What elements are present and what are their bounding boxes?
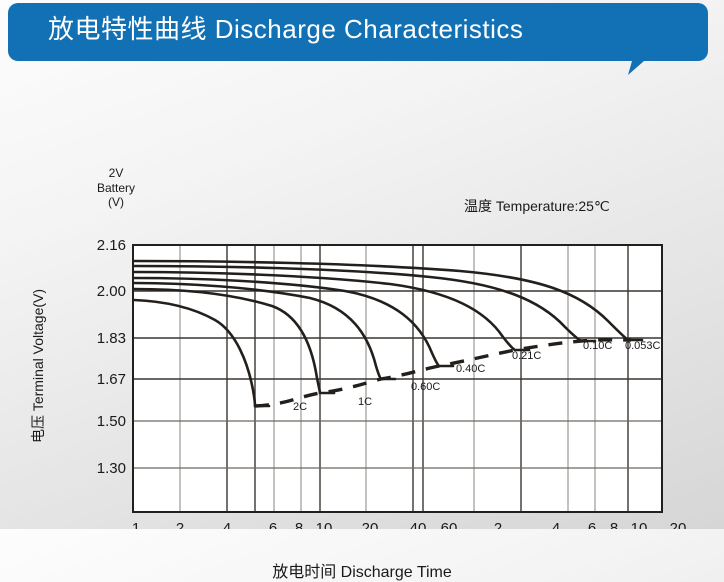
x-tick-10-min: 10 bbox=[316, 520, 333, 529]
y-tick-2-16: 2.16 bbox=[97, 237, 126, 254]
x-axis-title: 放电时间 Discharge Time bbox=[0, 558, 724, 582]
page-title: 放电特性曲线 Discharge Characteristics bbox=[48, 14, 523, 44]
discharge-chart: 2C 1C 0.60C 0.40C 0.21C 0.10C 0.053C 2.1… bbox=[0, 78, 724, 529]
x-axis-tick-labels: 1 2 4 6 8 10 20 40 60 2 4 6 8 10 20 bbox=[132, 520, 687, 529]
curve-label-0-60c: 0.60C bbox=[411, 381, 440, 393]
x-tick-10-h: 10 bbox=[631, 520, 648, 529]
x-tick-2-h: 2 bbox=[494, 520, 502, 529]
curve-label-2c: 2C bbox=[293, 401, 307, 413]
x-tick-40-min: 40 bbox=[410, 520, 427, 529]
y-tick-1-67: 1.67 bbox=[97, 371, 126, 388]
x-tick-8-h: 8 bbox=[610, 520, 618, 529]
curve-label-0-21c: 0.21C bbox=[512, 350, 541, 362]
page-root: 放电特性曲线 Discharge Characteristics bbox=[0, 0, 724, 529]
unit-head-line-3: (V) bbox=[83, 195, 149, 210]
x-tick-20-min: 20 bbox=[362, 520, 379, 529]
y-tick-1-30: 1.30 bbox=[97, 460, 126, 477]
x-tick-20-h: 20 bbox=[670, 520, 687, 529]
curve-label-0-40c: 0.40C bbox=[456, 363, 485, 375]
y-axis-tick-labels: 2.16 2.00 1.83 1.67 1.50 1.30 bbox=[97, 237, 126, 477]
curve-label-1c: 1C bbox=[358, 396, 372, 408]
unit-head-line-1: 2V bbox=[83, 166, 149, 181]
x-tick-6-h: 6 bbox=[588, 520, 596, 529]
header-banner: 放电特性曲线 Discharge Characteristics bbox=[8, 3, 708, 75]
x-tick-2-min: 2 bbox=[176, 520, 184, 529]
unit-head-line-2: Battery bbox=[83, 181, 149, 196]
y-axis-title: 电压 Terminal Voltage(V) bbox=[28, 266, 48, 466]
x-tick-4-min: 4 bbox=[223, 520, 231, 529]
temperature-note: 温度 Temperature:25℃ bbox=[464, 196, 610, 216]
curve-label-0-053c: 0.053C bbox=[625, 340, 661, 352]
y-tick-1-83: 1.83 bbox=[97, 330, 126, 347]
curve-label-0-10c: 0.10C bbox=[583, 340, 612, 352]
x-tick-60-min: 60 bbox=[441, 520, 458, 529]
x-tick-1-min: 1 bbox=[132, 520, 140, 529]
x-tick-8-min: 8 bbox=[295, 520, 303, 529]
battery-unit-header: 2V Battery (V) bbox=[83, 166, 149, 210]
y-tick-1-50: 1.50 bbox=[97, 413, 126, 430]
x-tick-4-h: 4 bbox=[552, 520, 560, 529]
chart-canvas: 2C 1C 0.60C 0.40C 0.21C 0.10C 0.053C 2.1… bbox=[0, 78, 724, 529]
x-tick-6-min: 6 bbox=[269, 520, 277, 529]
y-tick-2-00: 2.00 bbox=[97, 283, 126, 300]
